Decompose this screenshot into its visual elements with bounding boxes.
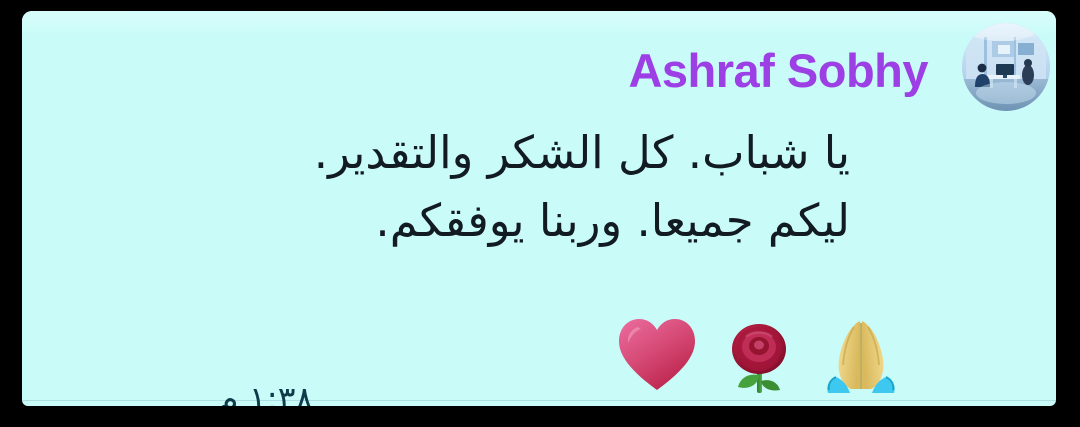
message-card[interactable]: Ashraf Sobhy (22, 11, 1056, 406)
message-timestamp: ١:٣٨ م (218, 379, 313, 406)
message-text: يا شباب. كل الشكر والتقدير. ليكم جميعا. … (190, 119, 850, 256)
avatar[interactable] (962, 23, 1050, 111)
divider-hairline (22, 400, 1056, 401)
message-line: يا شباب. كل الشكر والتقدير. (190, 119, 850, 187)
emoji-row (614, 311, 904, 397)
card-top-sheen (22, 11, 1056, 37)
message-line: ليكم جميعا. وربنا يوفقكم. (190, 187, 850, 255)
heart-emoji (614, 311, 700, 397)
rose-emoji (716, 311, 802, 397)
screenshot-root: Ashraf Sobhy (0, 0, 1080, 427)
folded-hands-emoji (818, 311, 904, 397)
sender-name: Ashraf Sobhy (628, 46, 928, 95)
